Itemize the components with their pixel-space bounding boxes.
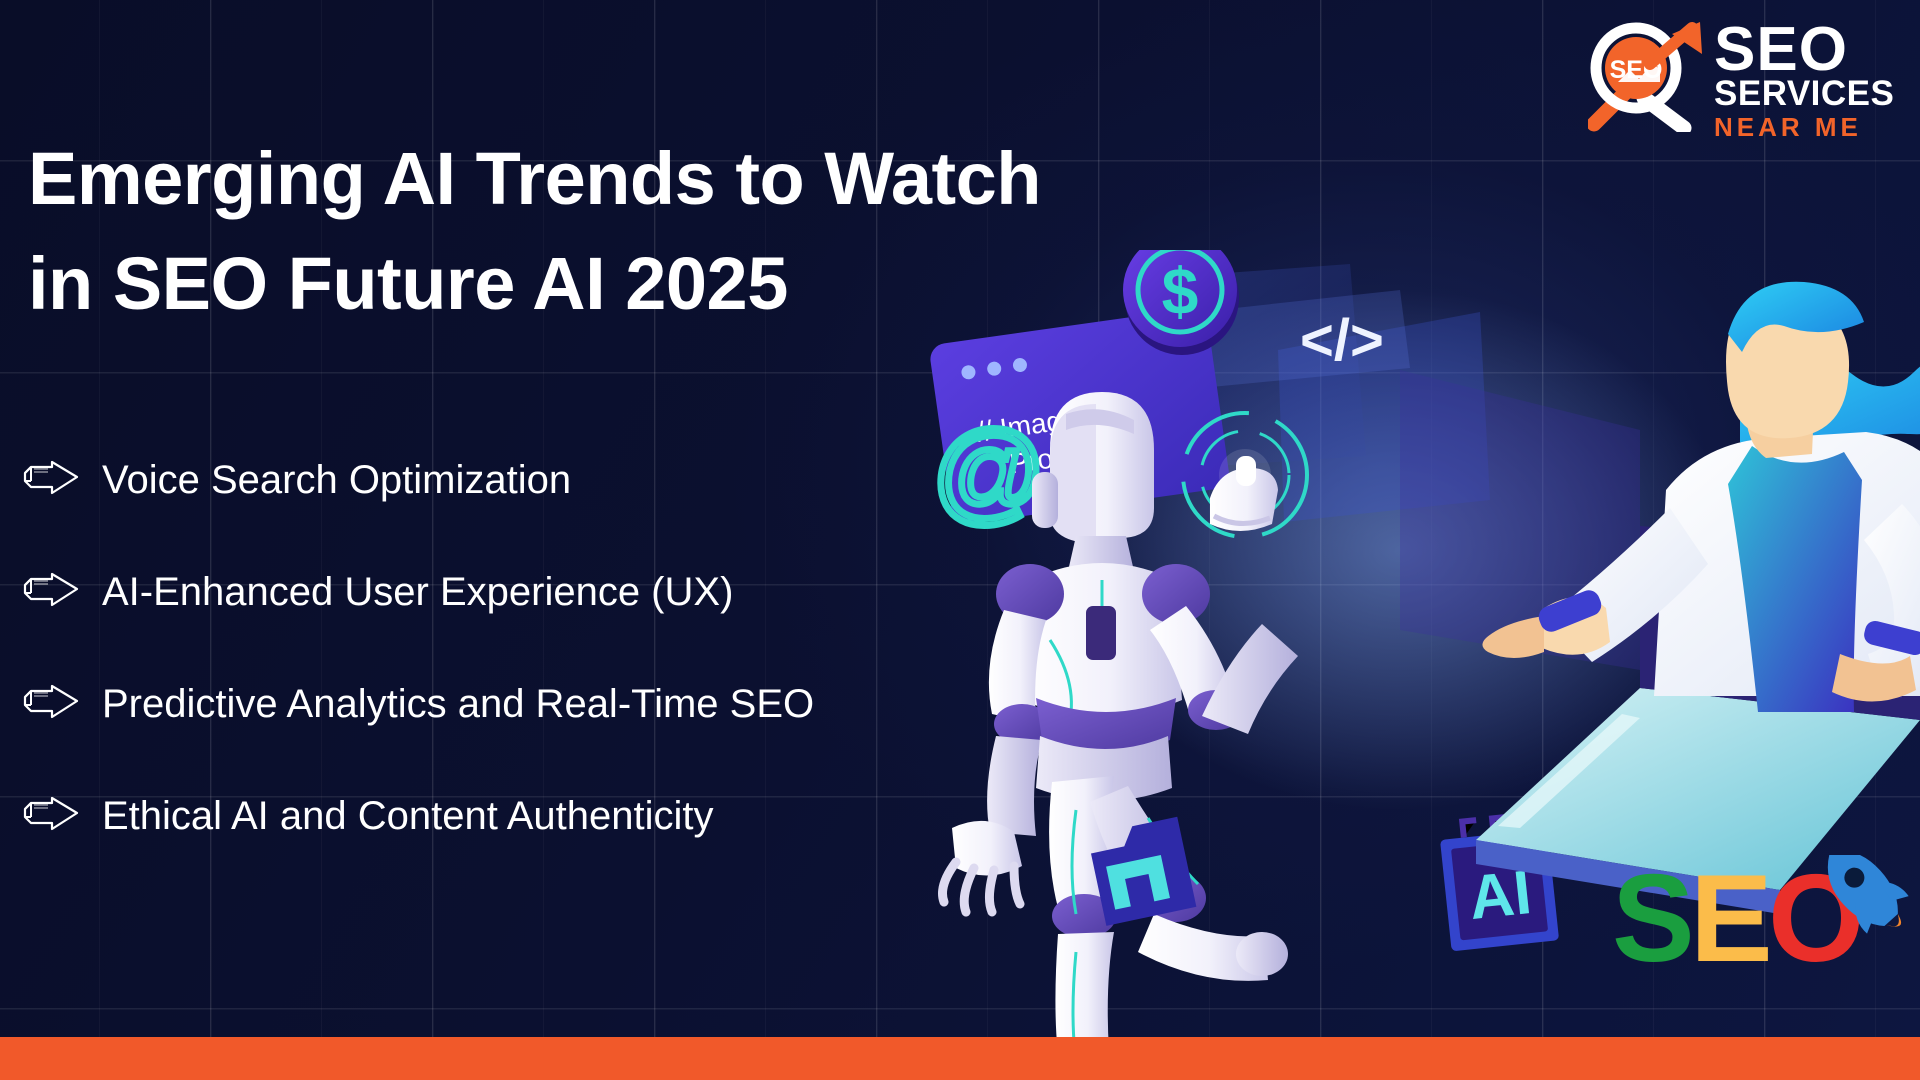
- poster-canvas: // Imagine Prompt_ _ @ $ </>: [0, 0, 1920, 1080]
- headline-line-2: in SEO Future AI 2025: [28, 231, 1208, 336]
- right-arrow-3d-icon: [22, 459, 80, 501]
- trend-item-2: AI-Enhanced User Experience (UX): [22, 536, 982, 648]
- brand-line-near-me: NEAR ME: [1714, 113, 1910, 142]
- code-tag-icon: </>: [1300, 308, 1384, 373]
- footer-accent-bar: [0, 1037, 1920, 1080]
- trend-item-3: Predictive Analytics and Real-Time SEO: [22, 648, 982, 760]
- right-arrow-3d-icon: [22, 795, 80, 837]
- trend-item-4: Ethical AI and Content Authenticity: [22, 760, 982, 872]
- list-item-label: Ethical AI and Content Authenticity: [102, 793, 714, 839]
- brand-line-seo: SEO: [1714, 20, 1910, 80]
- brand-wordmark: SEO SERVICES NEAR ME: [1714, 20, 1910, 142]
- list-item-label: AI-Enhanced User Experience (UX): [102, 569, 733, 615]
- page-title: Emerging AI Trends to Watch in SEO Futur…: [28, 126, 1208, 336]
- list-item-label: Voice Search Optimization: [102, 457, 571, 503]
- trends-list: Voice Search Optimization AI-Enhanced Us…: [22, 424, 982, 872]
- magnifier-growth-arrow-icon: SEO: [1588, 20, 1706, 132]
- brand-logo[interactable]: SEO SEO SERVICES NEAR ME: [1588, 12, 1908, 140]
- trend-item-1: Voice Search Optimization: [22, 424, 982, 536]
- brand-line-services: SERVICES: [1714, 76, 1910, 113]
- code-tag-text: </>: [1300, 308, 1384, 373]
- seo-logo-letter-e: E: [1690, 855, 1773, 985]
- headline-line-1: Emerging AI Trends to Watch: [28, 126, 1208, 231]
- right-arrow-3d-icon: [22, 683, 80, 725]
- right-arrow-3d-icon: [22, 571, 80, 613]
- seo-rocket-logo: S E O: [1612, 855, 1912, 985]
- seo-logo-letter-s: S: [1612, 855, 1695, 985]
- list-item-label: Predictive Analytics and Real-Time SEO: [102, 681, 814, 727]
